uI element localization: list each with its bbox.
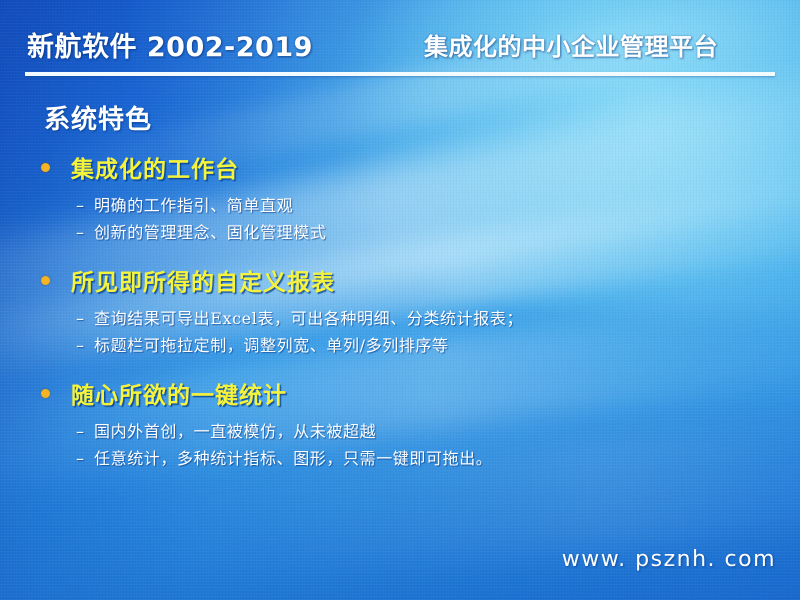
list-item: – 明确的工作指引、简单直观 (76, 192, 800, 219)
header-subtitle: 集成化的中小企业管理平台 (424, 27, 718, 62)
bullet-dot-icon (41, 163, 50, 172)
bullet-group: 随心所欲的一键统计 – 国内外首创，一直被模仿，从未被超越 – 任意统计，多种统… (0, 376, 800, 472)
list-item-label: 国内外首创，一直被模仿，从未被超越 (94, 418, 376, 445)
bullet-heading-row: 所见即所得的自定义报表 (0, 263, 800, 297)
sub-item-list: – 国内外首创，一直被模仿，从未被超越 – 任意统计，多种统计指标、图形，只需一… (0, 418, 800, 472)
bullet-heading-label: 随心所欲的一键统计 (71, 376, 287, 410)
dash-icon: – (76, 332, 94, 359)
bullet-dot-icon (41, 276, 50, 285)
dash-icon: – (76, 192, 94, 219)
bullet-heading-label: 所见即所得的自定义报表 (71, 263, 335, 297)
list-item-label: 任意统计，多种统计指标、图形，只需一键即可拖出。 (94, 445, 492, 472)
list-item-label: 明确的工作指引、简单直观 (94, 192, 293, 219)
bullet-heading-row: 集成化的工作台 (0, 150, 800, 184)
list-item-label: 查询结果可导出Excel表，可出各种明细、分类统计报表； (94, 305, 523, 332)
dash-icon: – (76, 445, 94, 472)
list-item: – 任意统计，多种统计指标、图形，只需一键即可拖出。 (76, 445, 800, 472)
footer-website-url: www. psznh. com (562, 547, 776, 572)
bullet-list: 集成化的工作台 – 明确的工作指引、简单直观 – 创新的管理理念、固化管理模式 (0, 150, 800, 489)
list-item: – 国内外首创，一直被模仿，从未被超越 (76, 418, 800, 445)
header-title: 新航软件 2002-2019 (27, 25, 313, 64)
list-item-label: 标题栏可拖拉定制，调整列宽、单列/多列排序等 (94, 332, 449, 359)
list-item: – 查询结果可导出Excel表，可出各种明细、分类统计报表； (76, 305, 800, 332)
list-item: – 创新的管理理念、固化管理模式 (76, 219, 800, 246)
bullet-group: 集成化的工作台 – 明确的工作指引、简单直观 – 创新的管理理念、固化管理模式 (0, 150, 800, 246)
dash-icon: – (76, 219, 94, 246)
header-divider (25, 72, 775, 76)
presentation-slide: 新航软件 2002-2019 集成化的中小企业管理平台 系统特色 集成化的工作台… (0, 0, 800, 600)
list-item-label: 创新的管理理念、固化管理模式 (94, 219, 326, 246)
sub-item-list: – 明确的工作指引、简单直观 – 创新的管理理念、固化管理模式 (0, 192, 800, 246)
dash-icon: – (76, 305, 94, 332)
bullet-group: 所见即所得的自定义报表 – 查询结果可导出Excel表，可出各种明细、分类统计报… (0, 263, 800, 359)
slide-content: 新航软件 2002-2019 集成化的中小企业管理平台 系统特色 集成化的工作台… (0, 0, 800, 600)
bullet-heading-label: 集成化的工作台 (71, 150, 239, 184)
list-item: – 标题栏可拖拉定制，调整列宽、单列/多列排序等 (76, 332, 800, 359)
bullet-heading-row: 随心所欲的一键统计 (0, 376, 800, 410)
dash-icon: – (76, 418, 94, 445)
page-title: 系统特色 (44, 99, 152, 136)
bullet-dot-icon (41, 389, 50, 398)
sub-item-list: – 查询结果可导出Excel表，可出各种明细、分类统计报表； – 标题栏可拖拉定… (0, 305, 800, 359)
